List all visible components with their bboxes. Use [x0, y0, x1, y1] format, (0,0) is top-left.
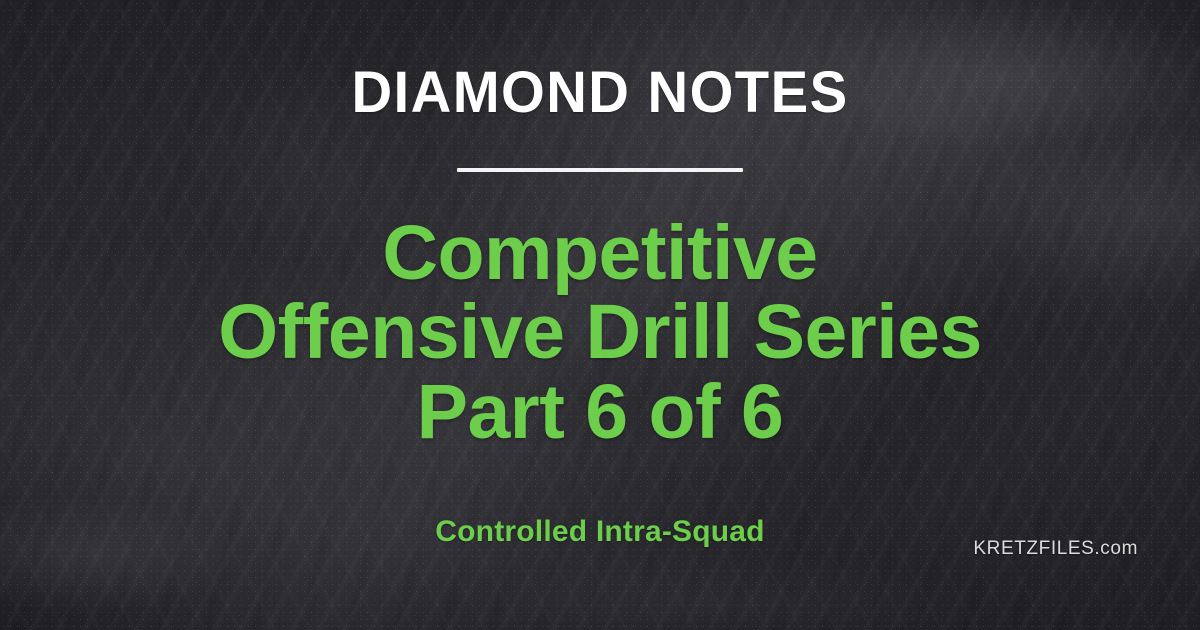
headline-line-3: Part 6 of 6 [0, 373, 1200, 452]
site-watermark: KRETZFILES.com [973, 539, 1138, 558]
headline-line-1: Competitive [0, 214, 1200, 293]
title-divider [457, 168, 743, 172]
eyebrow-title: DIAMOND NOTES [18, 64, 1182, 122]
headline-line-2: Offensive Drill Series [0, 293, 1200, 372]
slide-content: DIAMOND NOTES Competitive Offensive Dril… [0, 0, 1200, 630]
headline-block: Competitive Offensive Drill Series Part … [0, 214, 1200, 452]
chalkboard-slide: DIAMOND NOTES Competitive Offensive Dril… [0, 0, 1200, 630]
